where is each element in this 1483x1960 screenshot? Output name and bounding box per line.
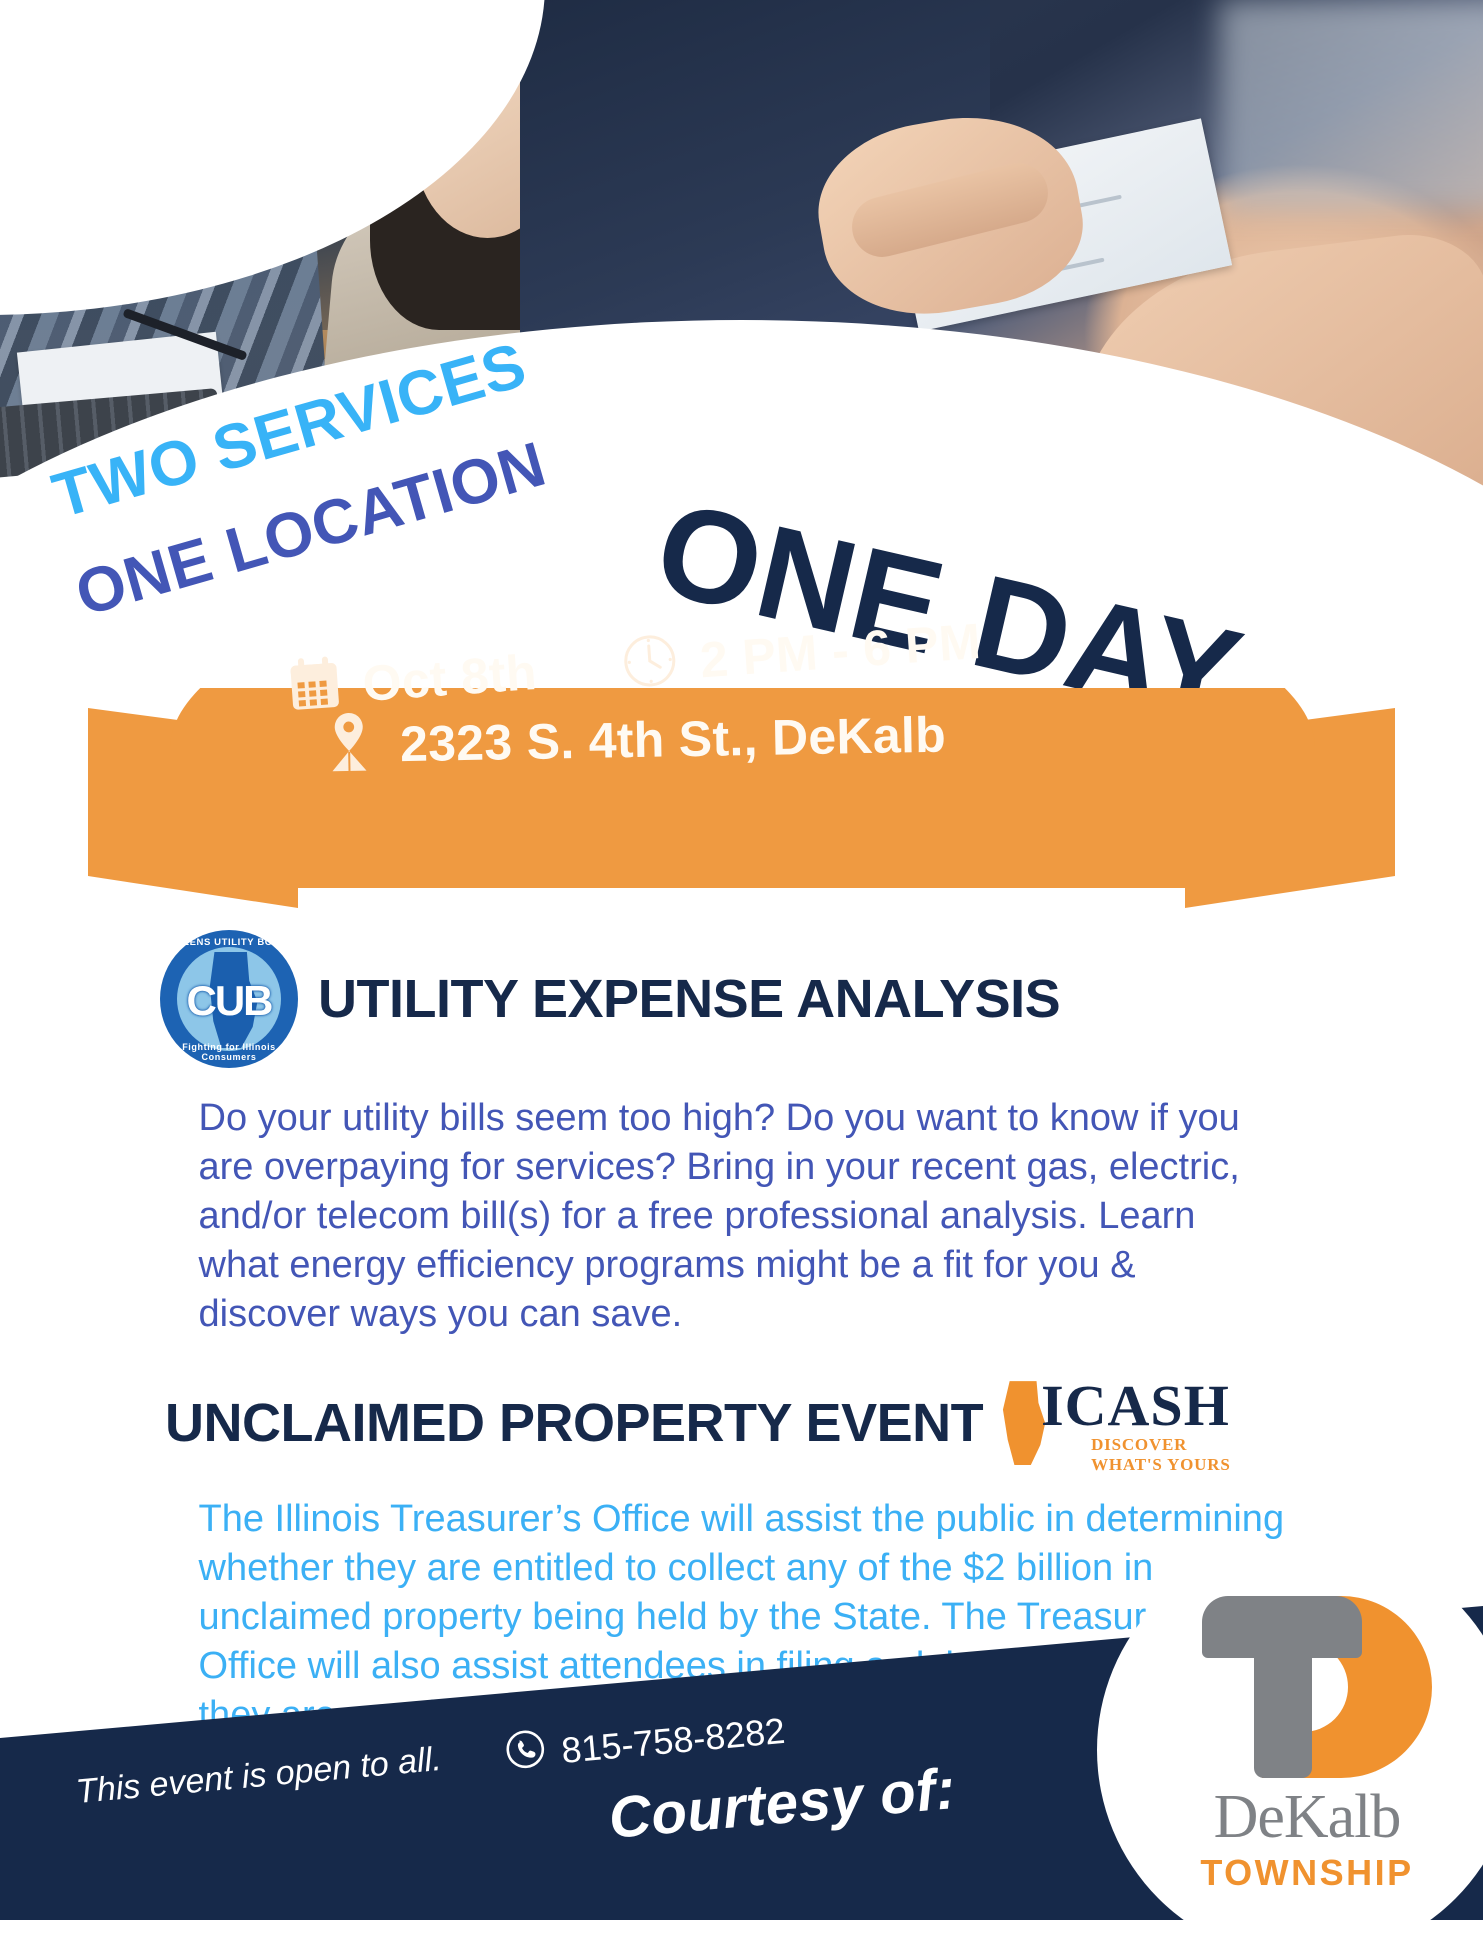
cub-logo-arc-bottom: Fighting for Illinois Consumers	[160, 1042, 298, 1062]
dekalb-td-monogram-icon	[1182, 1596, 1432, 1778]
icash-wordmark: ICASH	[1041, 1377, 1230, 1435]
unclaimed-section-heading: UNCLAIMED PROPERTY EVENT	[165, 1392, 983, 1454]
footer-phone: 815-758-8282	[504, 1706, 787, 1780]
footer-open-note: This event is open to all.	[74, 1740, 443, 1812]
clock-icon	[620, 631, 680, 696]
section-utility-header: CITIZENS UTILITY BOARD CUB Fighting for …	[0, 930, 1483, 1068]
utility-section-body: Do your utility bills seem too high? Do …	[177, 1094, 1307, 1339]
icash-tagline: DISCOVER WHAT'S YOURS	[1091, 1435, 1249, 1475]
map-pin-icon	[319, 710, 378, 778]
cub-logo: CITIZENS UTILITY BOARD CUB Fighting for …	[160, 930, 298, 1068]
event-address: 2323 S. 4th St., DeKalb	[400, 705, 947, 773]
footer-phone-number[interactable]: 815-758-8282	[560, 1709, 787, 1771]
calendar-icon	[287, 655, 343, 719]
event-date: Oct 8th	[361, 642, 539, 712]
footer-courtesy-label: Courtesy of:	[606, 1755, 958, 1852]
dekalb-logo-name: DeKalb	[1214, 1786, 1401, 1848]
dekalb-logo-subtitle: TOWNSHIP	[1200, 1852, 1413, 1894]
phone-icon	[504, 1728, 548, 1780]
utility-section-heading: UTILITY EXPENSE ANALYSIS	[318, 968, 1060, 1030]
icash-logo: ICASH DISCOVER WHAT'S YOURS	[999, 1377, 1249, 1469]
illinois-state-icon	[999, 1381, 1047, 1465]
cub-logo-arc-top: CITIZENS UTILITY BOARD	[160, 937, 298, 948]
section-unclaimed-header: UNCLAIMED PROPERTY EVENT ICASH DISCOVER …	[0, 1377, 1483, 1469]
cub-logo-wordmark: CUB	[160, 977, 298, 1025]
